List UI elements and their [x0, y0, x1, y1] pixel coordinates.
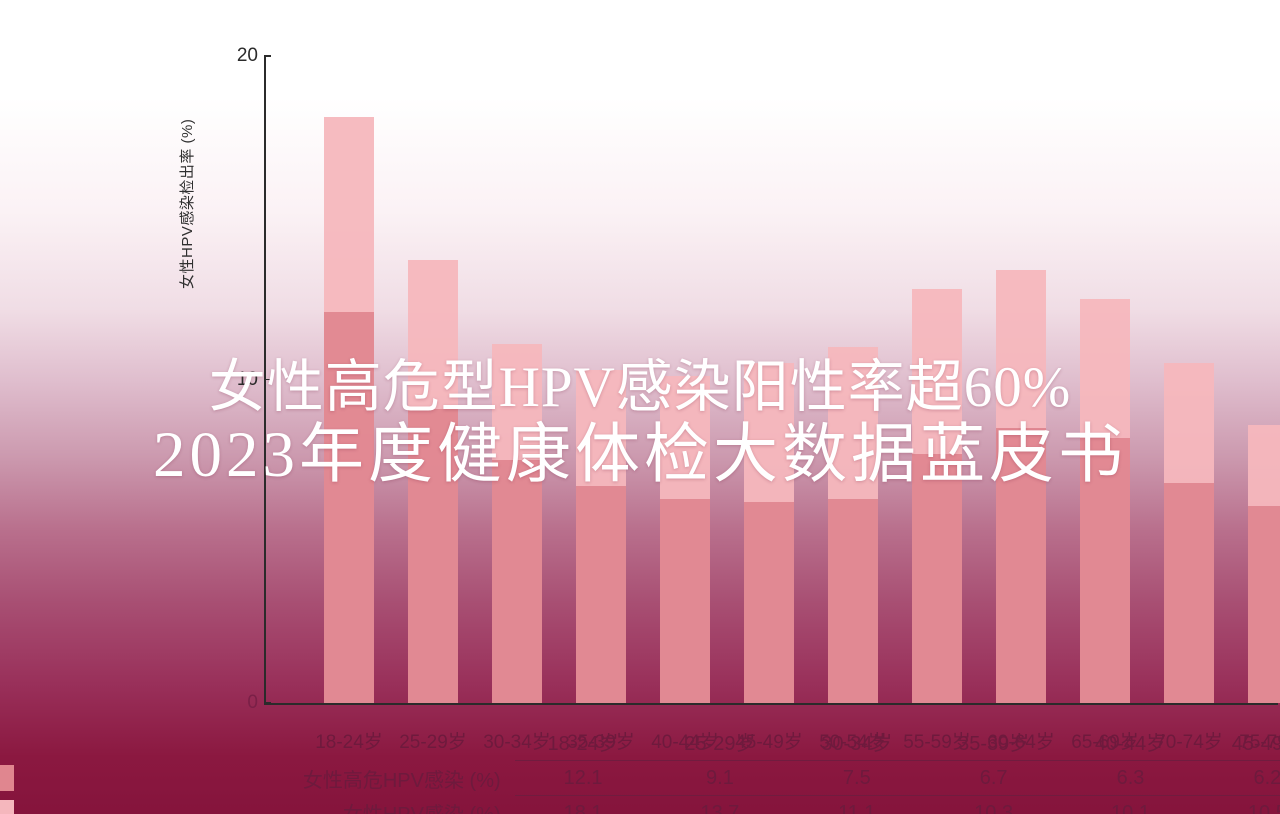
legend-swatch-cell — [0, 761, 26, 796]
table-cell: 6.7 — [925, 761, 1062, 796]
data-table-body: 女性高危HPV感染 (%)12.19.17.56.76.36.26.37.78.… — [0, 761, 1280, 814]
bar-hpv-highrisk — [912, 454, 962, 703]
bar-hpv-highrisk — [744, 502, 794, 703]
legend-swatch — [0, 800, 14, 814]
table-cell: 13.7 — [652, 796, 789, 814]
y-axis-tick — [264, 702, 271, 704]
table-row: 女性HPV感染 (%)18.113.711.110.310.110.511.01… — [0, 796, 1280, 814]
bar-hpv-highrisk — [660, 499, 710, 703]
y-axis-tick-label: 0 — [247, 693, 258, 712]
table-column-header: 40-44岁 — [1062, 716, 1199, 761]
bar-hpv-highrisk — [996, 428, 1046, 703]
legend-swatch-header — [0, 716, 26, 761]
y-axis-tick-label: 20 — [237, 46, 258, 65]
bar-hpv-highrisk — [576, 486, 626, 703]
data-table: 18-24岁25-29岁30-34岁35-39岁40-44岁45-49岁50-5… — [0, 716, 1280, 814]
bar-hpv-highrisk — [492, 460, 542, 703]
bar-hpv-highrisk — [1248, 506, 1280, 703]
bar-hpv-highrisk — [324, 312, 374, 703]
table-column-header: 18-24岁 — [515, 716, 652, 761]
legend-swatch — [0, 765, 14, 791]
table-cell: 12.1 — [515, 761, 652, 796]
table-cell: 6.3 — [1062, 761, 1199, 796]
series-label: 女性高危HPV感染 (%) — [26, 761, 515, 796]
poster-canvas: 01020 18-24岁25-29岁30-34岁35-39岁40-44岁45-4… — [0, 0, 1280, 814]
table-column-header: 35-39岁 — [925, 716, 1062, 761]
table-cell: 11.1 — [788, 796, 925, 814]
table-cell: 10.5 — [1199, 796, 1280, 814]
data-table-container: 18-24岁25-29岁30-34岁35-39岁40-44岁45-49岁50-5… — [0, 716, 1280, 814]
table-cell: 6.2 — [1199, 761, 1280, 796]
table-cell: 18.1 — [515, 796, 652, 814]
x-axis-line — [264, 703, 1278, 705]
series-label: 女性HPV感染 (%) — [26, 796, 515, 814]
table-cell: 10.1 — [1062, 796, 1199, 814]
legend-swatch-cell — [0, 796, 26, 814]
table-cell: 10.3 — [925, 796, 1062, 814]
table-cell: 9.1 — [652, 761, 789, 796]
series-label-header — [26, 716, 515, 761]
table-column-header: 30-34岁 — [788, 716, 925, 761]
bar-chart: 01020 18-24岁25-29岁30-34岁35-39岁40-44岁45-4… — [0, 0, 1280, 814]
table-header-row: 18-24岁25-29岁30-34岁35-39岁40-44岁45-49岁50-5… — [0, 716, 1280, 761]
y-axis-tick — [264, 55, 271, 57]
y-axis-title: 女性HPV感染检出率 (%) — [176, 265, 197, 289]
data-table-head: 18-24岁25-29岁30-34岁35-39岁40-44岁45-49岁50-5… — [0, 716, 1280, 761]
table-row: 女性高危HPV感染 (%)12.19.17.56.76.36.26.37.78.… — [0, 761, 1280, 796]
bar-hpv-highrisk — [828, 499, 878, 703]
table-column-header: 45-49岁 — [1199, 716, 1280, 761]
y-axis-tick-label: 10 — [237, 370, 258, 389]
y-axis-tick — [264, 379, 271, 381]
bar-hpv-highrisk — [1164, 483, 1214, 703]
bar-hpv-highrisk — [408, 409, 458, 703]
table-cell: 7.5 — [788, 761, 925, 796]
table-column-header: 25-29岁 — [652, 716, 789, 761]
bar-hpv-highrisk — [1080, 438, 1130, 703]
